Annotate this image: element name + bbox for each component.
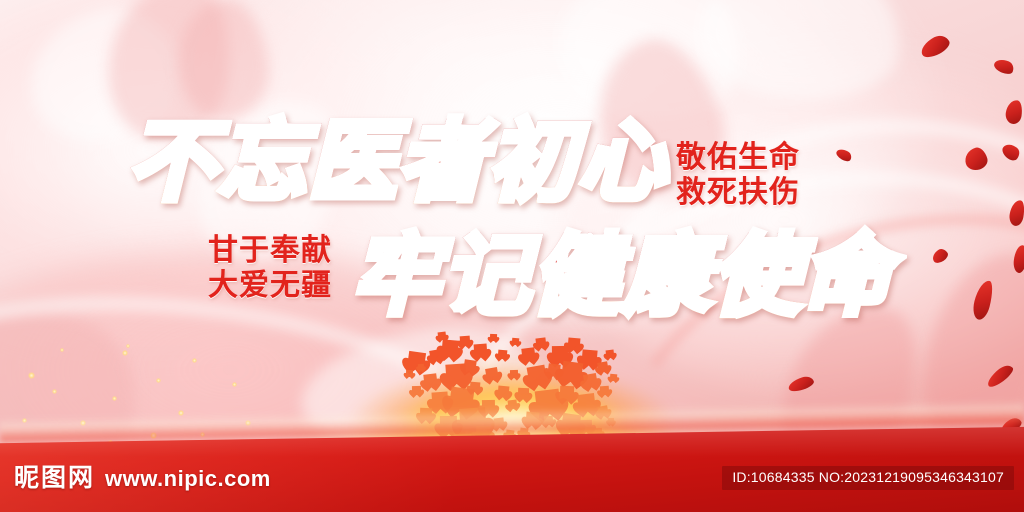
heart-shape [518, 388, 529, 399]
sparkle-dot [232, 382, 237, 387]
red-petal [984, 362, 1015, 390]
heart-shape [597, 361, 609, 373]
heart-shape [418, 364, 424, 370]
heart-shape [423, 373, 437, 387]
heart-shape [521, 347, 535, 361]
headline-line-2: 牢记健康使命 [352, 232, 892, 320]
heart-shape [412, 386, 421, 395]
heart-shape [512, 338, 520, 346]
sparkle-dot [192, 358, 197, 363]
heart-shape [498, 386, 510, 398]
site-logo[interactable]: 昵图网 www.nipic.com [14, 458, 271, 494]
red-petal [835, 147, 854, 164]
slogan-right-line-2: 救死扶伤 [676, 175, 800, 210]
petal-blob [693, 0, 907, 110]
red-petal [1008, 199, 1024, 227]
petal-blob [172, 0, 274, 124]
poster-canvas: 不忘医者初心 牢记健康使命 敬佑生命 救死扶伤 甘于奉献 大爱无疆 昵图网 ww… [0, 0, 1024, 512]
silk-highlight-right [560, 40, 1024, 400]
heart-shape [406, 370, 413, 377]
heart-shape [606, 350, 615, 359]
heart-shape [485, 367, 499, 381]
slogan-right: 敬佑生命 救死扶伤 [676, 140, 800, 211]
sparkle-dot [126, 344, 130, 348]
red-petal [1004, 99, 1023, 125]
sparkle-dot [52, 389, 57, 394]
slogan-right-line-1: 敬佑生命 [676, 140, 800, 175]
site-logo-url: www.nipic.com [105, 466, 271, 492]
red-petal [930, 247, 950, 266]
image-id-text: ID:10684335 NO:20231219095346343107 [732, 469, 1004, 485]
heart-shape [460, 336, 471, 347]
red-petal [1013, 244, 1024, 273]
heart-shape [535, 337, 546, 348]
heart-shape [490, 334, 497, 341]
sparkle-dot [112, 396, 117, 401]
slogan-left-line-2: 大爱无疆 [208, 268, 332, 303]
image-id-badge: ID:10684335 NO:20231219095346343107 [722, 466, 1014, 490]
red-petal [992, 57, 1015, 77]
heart-shape [463, 359, 477, 373]
heart-shape [581, 349, 597, 365]
heart-shape [498, 350, 508, 360]
red-petal [1000, 141, 1023, 163]
sparkle-dot [60, 348, 64, 352]
sparkle-dot [156, 378, 161, 383]
heart-shape [600, 386, 610, 396]
sparkle-dot [28, 372, 35, 379]
heart-shape [470, 382, 481, 393]
heart-shape [610, 374, 618, 382]
slogan-left-line-1: 甘于奉献 [208, 233, 332, 268]
site-logo-cn: 昵图网 [14, 458, 95, 494]
slogan-left: 甘于奉献 大爱无疆 [208, 233, 332, 304]
red-petal [962, 145, 989, 172]
sparkle-dot [122, 350, 128, 356]
heart-shape [474, 344, 488, 358]
heart-shape [567, 337, 580, 350]
heart-shape [583, 373, 598, 388]
heart-shape [560, 386, 574, 400]
headline-line-1: 不忘医者初心 [128, 118, 668, 206]
red-petal [918, 32, 952, 61]
red-petal [970, 279, 995, 322]
heart-shape [510, 370, 518, 378]
heart-shape [561, 361, 584, 384]
heart-shape [438, 332, 447, 341]
red-petal [787, 374, 815, 393]
